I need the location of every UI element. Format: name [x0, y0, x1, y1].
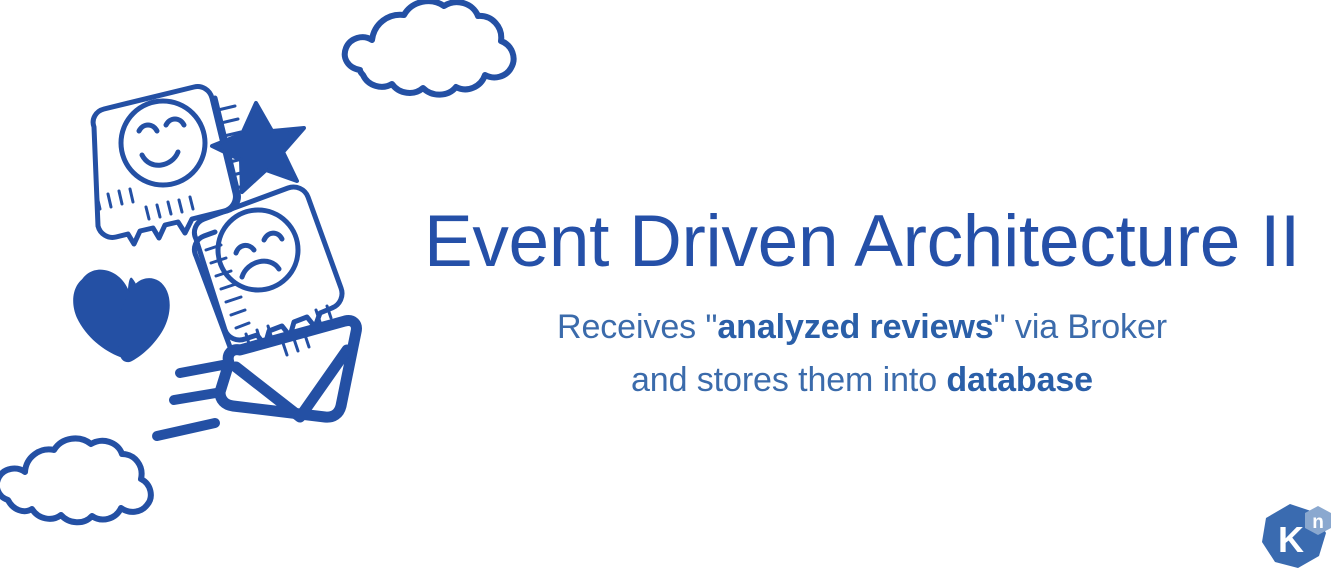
logo-primary-letter: K	[1278, 519, 1304, 560]
subtitle-line-1-prefix: Receives "	[557, 308, 717, 346]
subtitle-line-2-prefix: and stores them into	[631, 361, 946, 399]
slide-text-block: Event Driven Architecture II Receives "a…	[392, 205, 1332, 407]
subtitle-line-1-emphasis: analyzed reviews	[717, 308, 993, 346]
page-title: Event Driven Architecture II	[392, 205, 1332, 279]
cloud-bottom-icon	[0, 438, 151, 522]
brand-logo: K n	[1252, 500, 1336, 576]
review-card-sad-icon	[194, 187, 342, 355]
star-icon	[212, 103, 304, 192]
subtitle-line-1: Receives "analyzed reviews" via Broker	[392, 301, 1332, 354]
subtitle-line-2-emphasis: database	[946, 361, 1093, 399]
envelope-icon	[157, 321, 356, 436]
slide-root: Event Driven Architecture II Receives "a…	[0, 0, 1341, 585]
logo-badge-letter: n	[1312, 512, 1324, 533]
cloud-top-icon	[345, 1, 514, 94]
heart-icon	[73, 270, 170, 363]
subtitle-line-2: and stores them into database	[392, 354, 1332, 407]
subtitle-line-1-suffix: " via Broker	[994, 308, 1167, 346]
review-card-happy-icon	[93, 87, 248, 244]
slide-subtitle: Receives "analyzed reviews" via Broker a…	[392, 301, 1332, 406]
speed-lines-icon	[157, 364, 228, 436]
